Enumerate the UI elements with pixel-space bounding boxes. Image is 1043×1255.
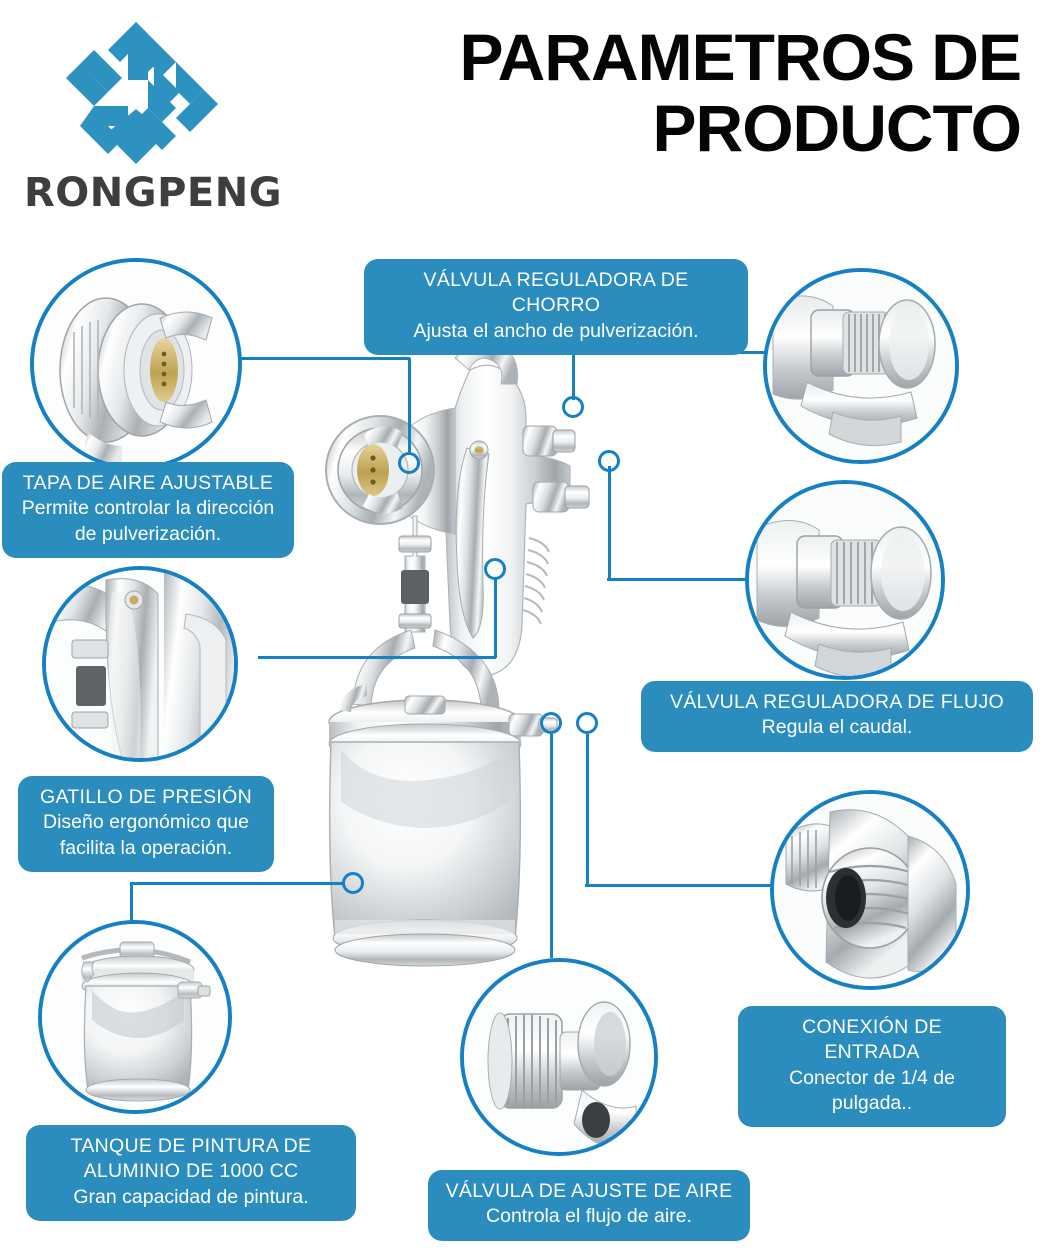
callout-title-trigger: GATILLO DE PRESIÓN [32,785,260,810]
connector-node-paint-tank [342,872,364,894]
callout-label-jet-regulator: VÁLVULA REGULADORA DE CHORRO Ajusta el a… [364,259,748,355]
connector-line-trigger-v [494,578,497,658]
callout-desc-flow-regulator: Regula el caudal. [655,715,1019,740]
callout-title-paint-tank-line1: TANQUE DE PINTURA DE [40,1134,342,1159]
trigger-photo [42,566,238,762]
rongpeng-diamond-logo-icon [50,18,225,168]
callout-title-air-cap: TAPA DE AIRE AJUSTABLE [16,471,280,496]
callout-desc-paint-tank: Gran capacidad de pintura. [40,1185,342,1210]
callout-label-inlet: CONEXIÓN DE ENTRADA Conector de 1/4 de p… [738,1006,1006,1127]
connector-line-air-adjust-v [550,734,553,958]
callout-title-inlet: CONEXIÓN DE ENTRADA [752,1015,992,1066]
connector-node-air-cap [398,452,420,474]
connector-line-trigger-h [258,656,496,659]
page-title: PARAMETROS DE PRODUCTO [281,22,1021,165]
connector-line-inlet-h [585,884,775,887]
connector-line-air-cap-h [240,357,410,360]
air-adjust-knob-photo [460,958,658,1156]
callout-label-trigger: GATILLO DE PRESIÓN Diseño ergonómico que… [18,776,274,872]
page-title-line2: PRODUCTO [281,93,1021,164]
callout-label-air-cap: TAPA DE AIRE AJUSTABLE Permite controlar… [2,462,294,558]
flow-regulator-knob-photo [745,480,945,680]
connector-line-air-cap-v [408,358,411,454]
callout-title-paint-tank-line2: ALUMINIO DE 1000 CC [40,1159,342,1184]
connector-line-tank-v [130,882,133,924]
callout-desc-inlet: Conector de 1/4 de pulgada.. [752,1066,992,1117]
brand-wordmark: RONGPENG [24,170,314,216]
connector-line-flow-v [608,466,611,580]
callout-label-paint-tank: TANQUE DE PINTURA DE ALUMINIO DE 1000 CC… [26,1125,356,1221]
callout-label-air-adjust: VÁLVULA DE AJUSTE DE AIRE Controla el fl… [428,1170,750,1241]
callout-desc-air-cap: Permite controlar la dirección de pulver… [16,496,280,547]
callout-title-air-adjust: VÁLVULA DE AJUSTE DE AIRE [442,1179,736,1204]
connector-line-flow-h [607,578,757,581]
page-title-line1: PARAMETROS DE [281,22,1021,93]
callout-label-flow-regulator: VÁLVULA REGULADORA DE FLUJO Regula el ca… [641,681,1033,752]
brand-logo: RONGPENG [24,18,314,218]
inlet-connector-photo [770,790,970,990]
connector-node-air-adjust [540,712,562,734]
callout-desc-trigger: Diseño ergonómico que facilita la operac… [32,810,260,861]
paint-tank-photo [38,920,232,1114]
jet-regulator-knob-photo [763,268,959,464]
connector-line-tank-h [130,882,344,885]
callout-desc-air-adjust: Controla el flujo de aire. [442,1204,736,1229]
connector-line-inlet-v [586,734,589,886]
air-cap-photo [30,258,242,470]
callout-desc-jet-regulator: Ajusta el ancho de pulverización. [378,319,734,344]
connector-node-trigger [484,558,506,580]
callout-title-flow-regulator: VÁLVULA REGULADORA DE FLUJO [655,690,1019,715]
callout-title-jet-regulator: VÁLVULA REGULADORA DE CHORRO [378,268,734,319]
infographic-page: RONGPENG PARAMETROS DE PRODUCTO [0,0,1043,1255]
connector-line-jet-v [572,352,575,400]
connector-node-inlet [576,712,598,734]
